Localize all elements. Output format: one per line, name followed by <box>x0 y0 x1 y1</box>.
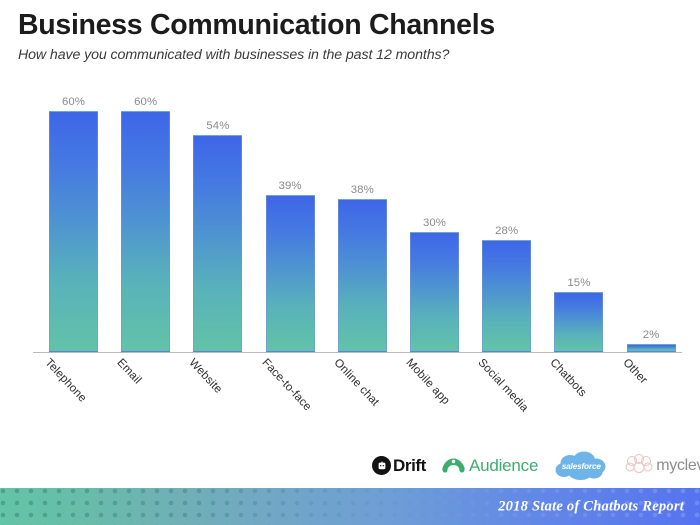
slide-canvas: Business Communication Channels How have… <box>0 0 700 525</box>
bar-slot: 28% <box>482 240 531 352</box>
logo-audience-label: Audience <box>469 456 538 476</box>
chart-header: Business Communication Channels How have… <box>18 10 682 63</box>
bar-slot: 15% <box>554 292 603 352</box>
x-axis-tick-label: Telephone <box>42 356 89 405</box>
bar-slot: 60% <box>121 111 170 352</box>
bar[interactable] <box>410 232 459 352</box>
x-axis-tick-label: Face-to-face <box>259 356 314 413</box>
footer-report-label: 2018 State of Chatbots Report <box>498 498 684 515</box>
page-title: Business Communication Channels <box>18 10 682 41</box>
logo-audience: Audience <box>441 451 538 481</box>
bar-slot: 60% <box>49 111 98 352</box>
bar[interactable] <box>49 111 98 352</box>
audience-arch-icon <box>441 457 466 474</box>
x-axis-tick-label: Email <box>115 356 145 386</box>
logo-salesforce: salesforce <box>553 451 609 481</box>
bar[interactable] <box>554 292 603 352</box>
bar-value-label: 39% <box>254 180 327 192</box>
bar[interactable] <box>338 199 387 352</box>
bar-slot: 39% <box>266 195 315 352</box>
x-axis-tick-label: Other <box>620 356 650 386</box>
bar-value-label: 30% <box>398 217 471 229</box>
logo-drift-label: Drift <box>393 456 426 476</box>
logo-drift: Drift <box>372 451 426 481</box>
drift-robot-icon <box>372 456 391 475</box>
bar[interactable] <box>627 344 676 352</box>
bar-chart-plot-area: 60%60%54%39%38%30%28%15%2% <box>0 88 700 353</box>
bar-slot: 2% <box>627 344 676 352</box>
bar[interactable] <box>121 111 170 352</box>
x-axis-tick-label: Website <box>187 356 225 396</box>
bar-value-label: 60% <box>37 96 110 108</box>
bar-value-label: 54% <box>181 120 254 132</box>
x-axis-tick-label: Chatbots <box>548 356 590 399</box>
bar-value-label: 28% <box>470 225 543 237</box>
x-axis-tick-label: Social media <box>476 356 532 414</box>
logo-myclever: myclever <box>624 451 700 481</box>
bar-value-label: 60% <box>109 96 182 108</box>
bar[interactable] <box>482 240 531 352</box>
logo-salesforce-label: salesforce <box>562 461 601 471</box>
chart-subtitle: How have you communicated with businesse… <box>18 47 682 63</box>
myclever-brain-icon <box>624 453 654 479</box>
salesforce-cloud-icon: salesforce <box>553 451 609 481</box>
bar-value-label: 2% <box>615 329 688 341</box>
bar-value-label: 15% <box>542 277 615 289</box>
bar[interactable] <box>266 195 315 352</box>
bar-slot: 38% <box>338 199 387 352</box>
x-axis-tick-labels: TelephoneEmailWebsiteFace-to-faceOnline … <box>0 353 700 443</box>
logo-myclever-label: myclever <box>656 457 700 475</box>
x-axis-tick-label: Online chat <box>331 356 381 409</box>
bar-slot: 30% <box>410 232 459 352</box>
bar[interactable] <box>193 135 242 352</box>
sponsor-logo-bar: Drift Audience <box>372 449 700 482</box>
x-axis-tick-label: Mobile app <box>403 356 452 407</box>
bar-slot: 54% <box>193 135 242 352</box>
bar-value-label: 38% <box>326 184 399 196</box>
footer-band: 2018 State of Chatbots Report <box>0 488 700 525</box>
